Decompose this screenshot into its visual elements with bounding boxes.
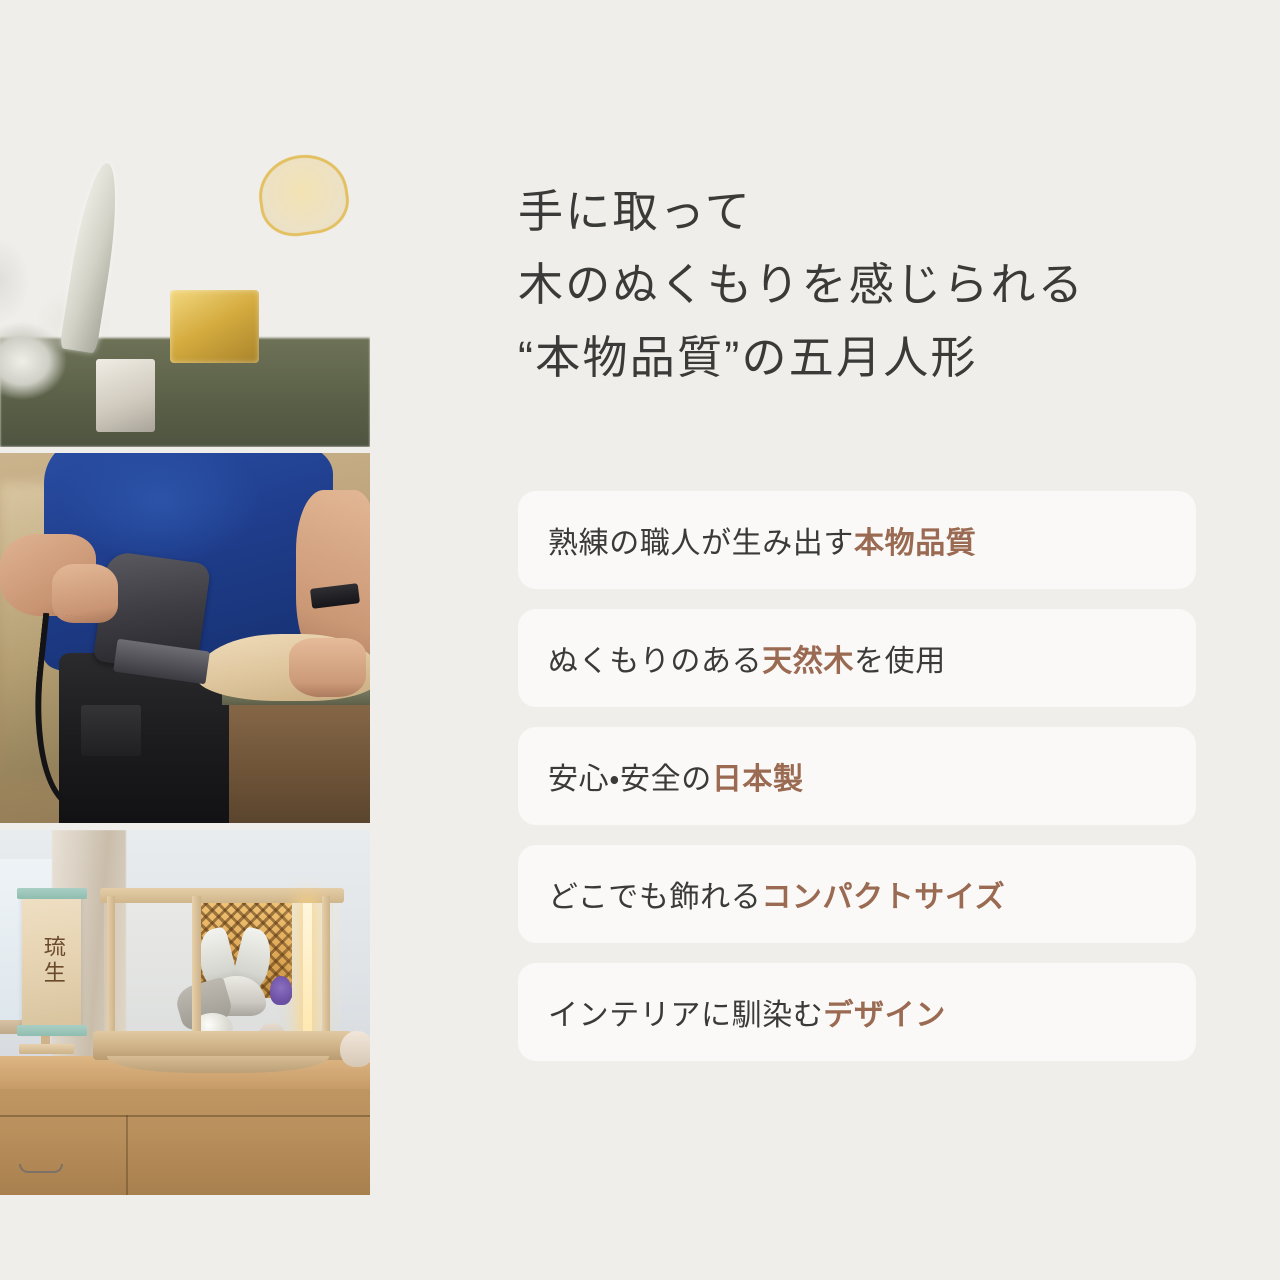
headline-line-1: 手に取って [518,176,1196,249]
feature-text-highlight: 本物品質 [854,527,976,560]
feature-text-prefix: ぬくもりのある [548,645,762,678]
drawer-seam-vertical [126,1115,128,1195]
samurai-armor-parts-photo [0,82,370,447]
feature-card: インテリアに馴染むデザイン [518,963,1196,1061]
feature-text: 熟練の職人が生み出す本物品質 [548,518,976,562]
feature-text-prefix: 安心・安全の [548,763,712,796]
rabbit-ornament [340,1031,370,1068]
name-banner: 琉生 [22,892,81,1031]
workbench-leg [229,690,370,823]
headline-line-3: “本物品質”の五月人形 [518,322,1196,395]
feature-text-suffix: を使用 [854,645,946,678]
samurai-armor-parts-photo-art [0,82,370,447]
feature-card: 熟練の職人が生み出す本物品質 [518,491,1196,589]
landing-page: 琉生 [0,0,1280,1280]
feature-text: どこでも飾れるコンパクトサイズ [548,872,1005,916]
headline-line-2: 木のぬくもりを感じられる [518,249,1196,322]
feature-text: ぬくもりのある天然木を使用 [548,636,946,680]
name-banner-text: 琉生 [41,935,63,987]
feature-card: ぬくもりのある天然木を使用 [518,609,1196,707]
name-banner-top-cap [17,888,87,899]
drawer-seam-horizontal [0,1115,370,1117]
display-case-top-rail [100,888,344,903]
purple-flower-decoration [270,976,292,1005]
feature-text-prefix: インテリアに馴染む [548,999,823,1032]
craftsman-sanding-photo [0,453,370,823]
craftsman-sanding-photo-art [0,453,370,823]
drawer-handle [19,1164,63,1173]
display-case-led-light [303,903,311,1034]
armor-photo-silver-fitting [96,359,155,432]
feature-text-highlight: 日本製 [712,763,804,796]
feature-text-highlight: 天然木 [762,645,854,678]
display-case-post-left [107,896,115,1035]
feature-text: インテリアに馴染むデザイン [548,990,946,1034]
feature-text: 安心・安全の日本製 [548,754,804,798]
feature-card: 安心・安全の日本製 [518,727,1196,825]
display-case-interior-photo: 琉生 [0,830,370,1195]
feature-text-prefix: どこでも飾れる [548,881,761,914]
feature-list: 熟練の職人が生み出す本物品質ぬくもりのある天然木を使用安心・安全の日本製どこでも… [518,491,1196,1061]
display-case-post-right [322,896,330,1035]
feature-card: どこでも飾れるコンパクトサイズ [518,845,1196,943]
display-case-interior-photo-art: 琉生 [0,830,370,1195]
feature-text-highlight: デザイン [823,999,945,1032]
name-banner-bottom-cap [17,1025,87,1036]
armor-photo-gold-fitting [170,290,259,363]
feature-text-highlight: コンパクトサイズ [761,881,1005,914]
content-column: 手に取って 木のぬくもりを感じられる “本物品質”の五月人形 熟練の職人が生み出… [518,0,1196,1280]
craftsman-right-hand [289,638,367,697]
feature-text-prefix: 熟練の職人が生み出す [548,527,854,560]
photo-column: 琉生 [0,82,370,1195]
name-banner-base [19,1044,75,1055]
page-headline: 手に取って 木のぬくもりを感じられる “本物品質”の五月人形 [518,176,1196,395]
display-case-post-middle [192,896,200,1035]
